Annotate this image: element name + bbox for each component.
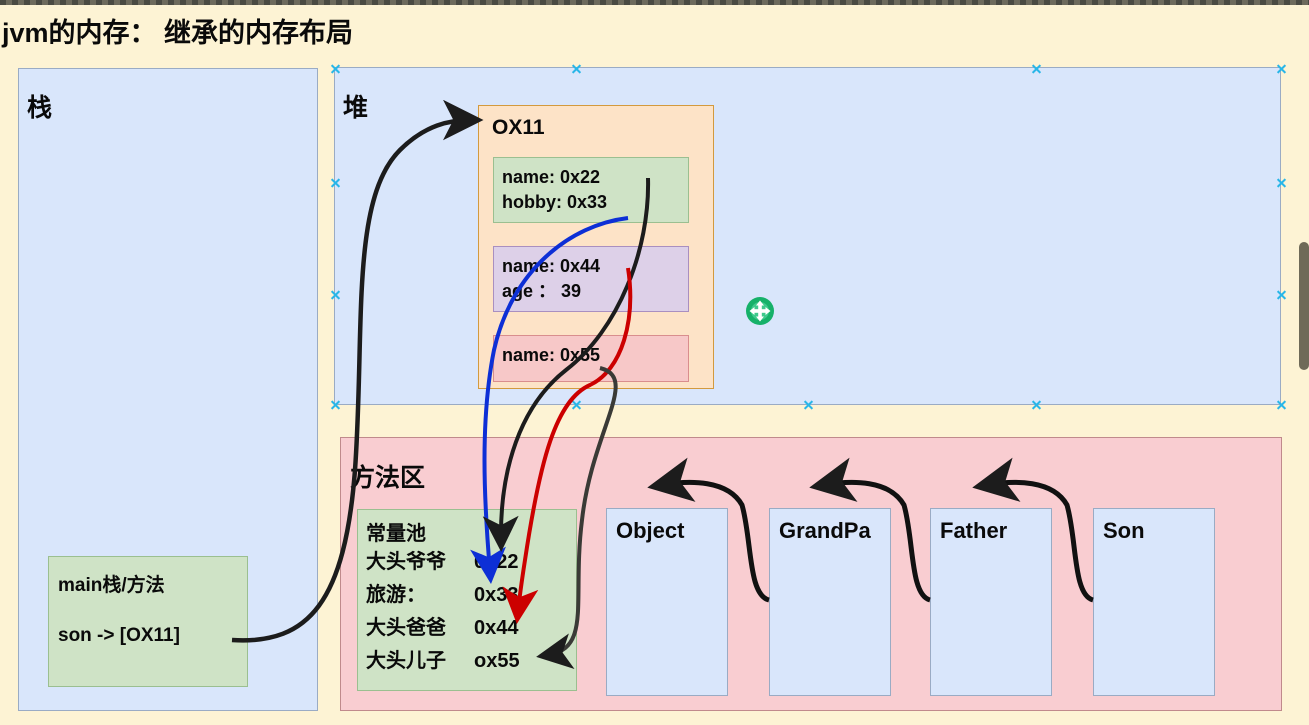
diagram-canvas: jvm的内存： 继承的内存布局 栈 main栈/方法 son -> [OX11]… bbox=[0, 0, 1309, 725]
constant-pool-value-0: 0x22 bbox=[474, 551, 519, 574]
class-name-object: Object bbox=[616, 518, 684, 544]
stack-frame-line-2: son -> [OX11] bbox=[58, 625, 180, 647]
constant-pool-key-3: 大头儿子 bbox=[366, 644, 474, 673]
constant-pool-row-2: 大头爸爸0x44 bbox=[366, 611, 519, 640]
class-name-father: Father bbox=[940, 518, 1007, 544]
object-slot-son-line-1: name: 0x55 bbox=[502, 343, 688, 368]
constant-pool-row-3: 大头儿子ox55 bbox=[366, 644, 520, 673]
selection-handle-top-mid-right[interactable] bbox=[1031, 63, 1042, 74]
constant-pool-row-0: 大头爷爷0x22 bbox=[366, 545, 519, 574]
selection-handle-bottom-mid[interactable] bbox=[803, 399, 814, 410]
constant-pool-title: 常量池 bbox=[366, 517, 426, 546]
constant-pool-value-2: 0x44 bbox=[474, 617, 519, 640]
selection-handle-top-right[interactable] bbox=[1276, 63, 1287, 74]
selection-handle-bottom-mid-left[interactable] bbox=[571, 399, 582, 410]
selection-handle-top-mid-left[interactable] bbox=[571, 63, 582, 74]
class-name-son: Son bbox=[1103, 518, 1145, 544]
selection-handle-bottom-right[interactable] bbox=[1276, 399, 1287, 410]
object-slot-father-line-2: age ： 39 bbox=[502, 279, 688, 304]
object-slot-father: name: 0x44 age ： 39 bbox=[493, 246, 689, 312]
heap-region-label: 堆 bbox=[343, 88, 368, 124]
selection-handle-left-upper[interactable] bbox=[330, 177, 341, 188]
constant-pool-key-2: 大头爸爸 bbox=[366, 611, 474, 640]
selection-handle-right-lower[interactable] bbox=[1276, 289, 1287, 300]
constant-pool-value-1: 0x33 bbox=[474, 584, 519, 607]
stack-region-label: 栈 bbox=[27, 88, 52, 124]
object-slot-grandpa: name: 0x22 hobby: 0x33 bbox=[493, 157, 689, 223]
selection-handle-top-left[interactable] bbox=[330, 63, 341, 74]
selection-handle-bottom-left[interactable] bbox=[330, 399, 341, 410]
heap-object-OX11[interactable]: OX11 name: 0x22 hobby: 0x33 name: 0x44 a… bbox=[478, 105, 714, 389]
class-name-grandpa: GrandPa bbox=[779, 518, 871, 544]
method-area-label: 方法区 bbox=[350, 458, 425, 494]
selection-handle-bottom-mid-right[interactable] bbox=[1031, 399, 1042, 410]
class-box-grandpa[interactable]: GrandPa bbox=[769, 508, 891, 696]
stack-frame-line-1: main栈/方法 bbox=[58, 570, 165, 597]
constant-pool-key-0: 大头爷爷 bbox=[366, 545, 474, 574]
constant-pool-row-1: 旅游：0x33 bbox=[366, 578, 519, 607]
object-slot-grandpa-line-1: name: 0x22 bbox=[502, 165, 688, 190]
constant-pool-key-1: 旅游： bbox=[366, 578, 474, 607]
heap-object-id: OX11 bbox=[492, 116, 545, 140]
object-slot-son: name: 0x55 bbox=[493, 335, 689, 382]
heap-region[interactable] bbox=[334, 67, 1281, 405]
class-box-object[interactable]: Object bbox=[606, 508, 728, 696]
selection-handle-right-upper[interactable] bbox=[1276, 177, 1287, 188]
constant-pool-box[interactable]: 常量池 大头爷爷0x22 旅游：0x33 大头爸爸0x44 大头儿子ox55 bbox=[357, 509, 577, 691]
constant-pool-value-3: ox55 bbox=[474, 650, 520, 673]
class-box-son[interactable]: Son bbox=[1093, 508, 1215, 696]
selection-handle-left-lower[interactable] bbox=[330, 289, 341, 300]
move-handle-icon[interactable] bbox=[745, 296, 775, 326]
page-title: jvm的内存： 继承的内存布局 bbox=[2, 11, 602, 47]
vertical-scrollbar-thumb[interactable] bbox=[1299, 242, 1309, 370]
object-slot-father-line-1: name: 0x44 bbox=[502, 254, 688, 279]
object-slot-grandpa-line-2: hobby: 0x33 bbox=[502, 190, 688, 215]
main-stack-frame[interactable]: main栈/方法 son -> [OX11] bbox=[48, 556, 248, 687]
window-top-strip bbox=[0, 0, 1309, 5]
class-box-father[interactable]: Father bbox=[930, 508, 1052, 696]
